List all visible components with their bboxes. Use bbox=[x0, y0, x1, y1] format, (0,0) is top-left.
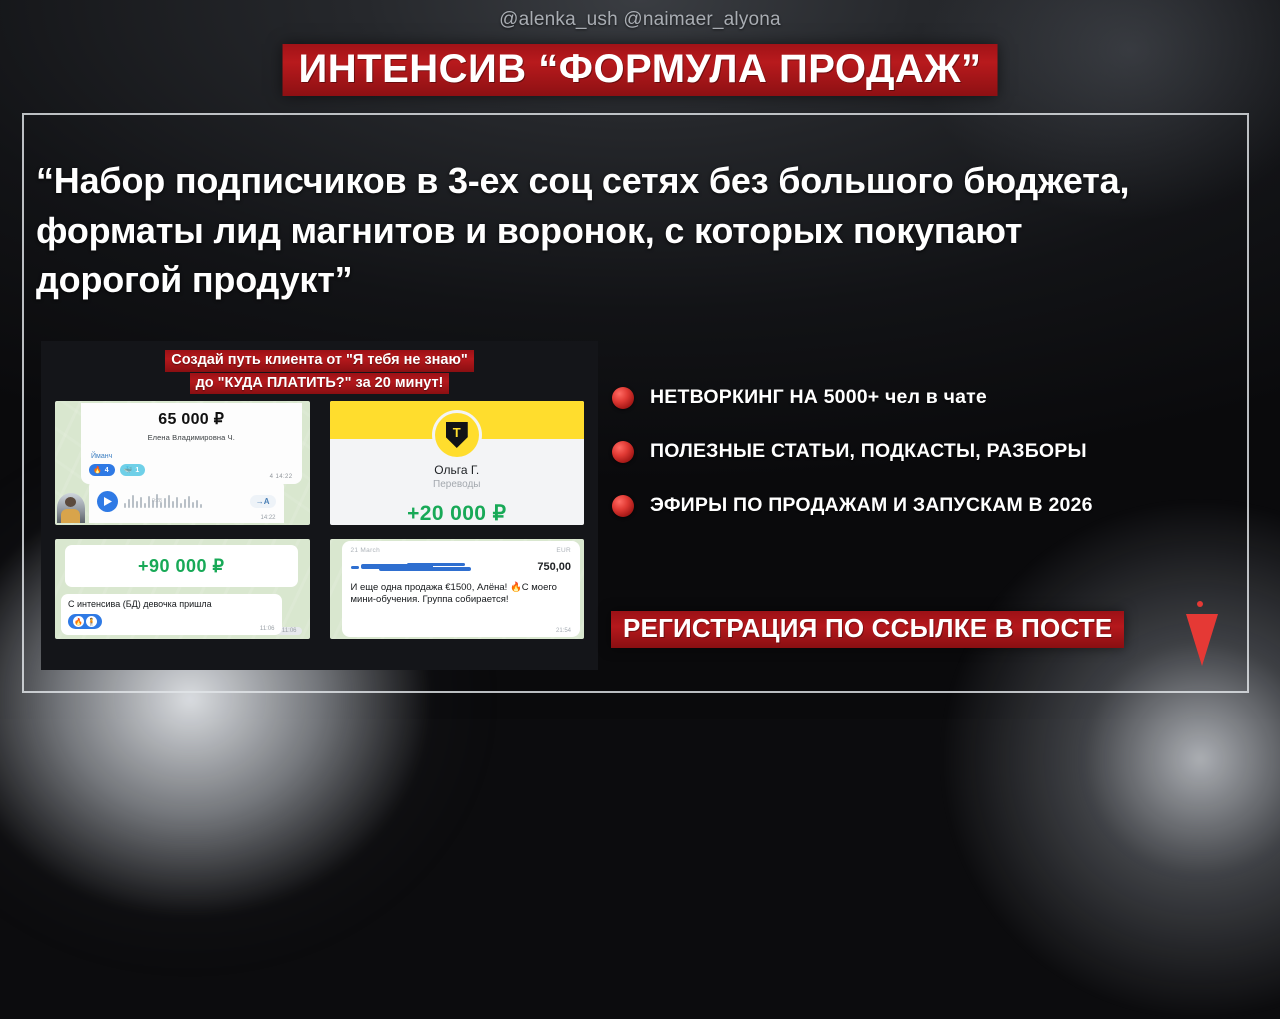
title-banner: ИНТЕНСИВ “ФОРМУЛА ПРОДАЖ” bbox=[283, 44, 998, 96]
list-item: ЭФИРЫ ПО ПРОДАЖАМ И ЗАПУСКАМ В 2026 bbox=[612, 494, 1212, 517]
tbank-logo-icon: Т bbox=[435, 413, 479, 457]
tbank-amount: +20 000 ₽ bbox=[330, 501, 585, 525]
redacted-name bbox=[351, 563, 471, 572]
shield-icon: Т bbox=[446, 422, 468, 448]
reaction-fire: 🔥 4 bbox=[89, 464, 115, 476]
receipt-currency: EUR bbox=[556, 547, 571, 554]
list-item: ПОЛЕЗНЫЕ СТАТЬИ, ПОДКАСТЫ, РАЗБОРЫ bbox=[612, 440, 1212, 463]
voice-waveform: 0:28 bbox=[124, 494, 244, 508]
receipt-amount-row: 750,00 bbox=[351, 561, 572, 573]
shot-whatsapp-90k: +90 000 ₽ 11:06 С интенсива (БД) девочка… bbox=[55, 539, 310, 639]
cta-label: РЕГИСТРАЦИЯ ПО ССЫЛКЕ В ПОСТЕ bbox=[623, 615, 1112, 642]
payment-sender-name: Елена Владимировна Ч. bbox=[89, 433, 294, 442]
amount-bubble: +90 000 ₽ bbox=[65, 545, 298, 587]
whatsapp-voice-message: 0:28 →A bbox=[89, 479, 284, 523]
receipt-amount: 750,00 bbox=[537, 561, 571, 573]
avatar bbox=[57, 493, 85, 523]
message-text: И еще одна продажа €1500, Алёна! 🔥С моег… bbox=[351, 582, 572, 607]
reaction-pill: 🔥 🧍 bbox=[68, 614, 102, 629]
tbank-header-bar: Т bbox=[330, 401, 585, 439]
quote-text: “Набор подписчиков в 3-ех соц сетях без … bbox=[36, 156, 1156, 305]
collage-caption: Создай путь клиента от "Я тебя не знаю" … bbox=[41, 341, 598, 395]
social-handles: @alenka_ush @naimaer_alyona bbox=[0, 9, 1280, 31]
red-sphere-bullet-icon bbox=[612, 387, 634, 409]
whatsapp-payment-card: 65 000 ₽ Елена Владимировна Ч. Йманч 🔥 4… bbox=[81, 403, 302, 484]
red-sphere-bullet-icon bbox=[612, 495, 634, 517]
fire-icon: 🔥 bbox=[93, 466, 102, 474]
bank-receipt-card: 21 March EUR 750,00 И еще одна продажа €… bbox=[342, 541, 581, 637]
reaction-pills: 🔥 4 🐳 1 bbox=[89, 464, 294, 476]
tbank-category: Переводы bbox=[330, 479, 585, 490]
person-avatar-icon: 🧍 bbox=[86, 616, 97, 627]
fire-icon: 🔥 bbox=[73, 616, 84, 627]
benefits-list: НЕТВОРКИНГ НА 5000+ чел в чате ПОЛЕЗНЫЕ … bbox=[612, 386, 1212, 548]
collage-shots-grid: 65 000 ₽ Елена Владимировна Ч. Йманч 🔥 4… bbox=[41, 401, 598, 639]
slide-canvas: @alenka_ush @naimaer_alyona ИНТЕНСИВ “ФО… bbox=[0, 0, 1280, 719]
shot-whatsapp-eur: 21 March EUR 750,00 И еще одна продажа €… bbox=[330, 539, 585, 639]
whale-icon: 🐳 bbox=[124, 466, 133, 474]
shot-tbank-20k: Т Ольга Г. Переводы +20 000 ₽ bbox=[330, 401, 585, 525]
receipt-header-row: 21 March EUR bbox=[351, 547, 572, 554]
receipt-date: 21 March bbox=[351, 547, 381, 554]
reaction-whale: 🐳 1 bbox=[120, 464, 146, 476]
transcribe-button[interactable]: →A bbox=[250, 495, 276, 508]
list-item-label: НЕТВОРКИНГ НА 5000+ чел в чате bbox=[650, 386, 987, 409]
voice-message-time: 14:22 bbox=[260, 515, 275, 521]
list-item: НЕТВОРКИНГ НА 5000+ чел в чате bbox=[612, 386, 1212, 409]
red-sphere-bullet-icon bbox=[612, 441, 634, 463]
reaction-whale-count: 1 bbox=[135, 467, 139, 474]
background-glow-bottom-right bbox=[940, 499, 1280, 1019]
list-item-label: ЭФИРЫ ПО ПРОДАЖАМ И ЗАПУСКАМ В 2026 bbox=[650, 494, 1093, 517]
message-text: С интенсива (БД) девочка пришла bbox=[68, 599, 275, 609]
cta-banner[interactable]: РЕГИСТРАЦИЯ ПО ССЫЛКЕ В ПОСТЕ bbox=[611, 611, 1124, 648]
shot-whatsapp-65k: 65 000 ₽ Елена Владимировна Ч. Йманч 🔥 4… bbox=[55, 401, 310, 525]
reply-quote-label: Йманч bbox=[91, 453, 294, 460]
payment-amount: 65 000 ₽ bbox=[89, 409, 294, 429]
play-icon[interactable] bbox=[97, 491, 118, 512]
arrow-triangle bbox=[1186, 614, 1218, 666]
collage-caption-line-1: Создай путь клиента от "Я тебя не знаю" bbox=[165, 350, 474, 372]
message-bubble: С интенсива (БД) девочка пришла 🔥 🧍 11:0… bbox=[61, 594, 282, 635]
reaction-fire-count: 4 bbox=[105, 467, 109, 474]
tbank-logo-letter: Т bbox=[453, 426, 461, 439]
page-title: ИНТЕНСИВ “ФОРМУЛА ПРОДАЖ” bbox=[299, 49, 982, 89]
arrow-dot bbox=[1197, 601, 1203, 607]
message-time: 11:06 bbox=[260, 626, 275, 632]
list-item-label: ПОЛЕЗНЫЕ СТАТЬИ, ПОДКАСТЫ, РАЗБОРЫ bbox=[650, 440, 1087, 463]
payment-amount: +90 000 ₽ bbox=[138, 556, 225, 577]
down-arrow-icon bbox=[1186, 601, 1218, 669]
proof-screenshot-collage: Создай путь клиента от "Я тебя не знаю" … bbox=[41, 341, 598, 670]
message-time: 21:54 bbox=[556, 628, 571, 634]
collage-caption-line-2: до "КУДА ПЛАТИТЬ?" за 20 минут! bbox=[190, 373, 450, 395]
voice-duration: 0:28 bbox=[152, 498, 162, 504]
tbank-sender-name: Ольга Г. bbox=[330, 463, 585, 477]
